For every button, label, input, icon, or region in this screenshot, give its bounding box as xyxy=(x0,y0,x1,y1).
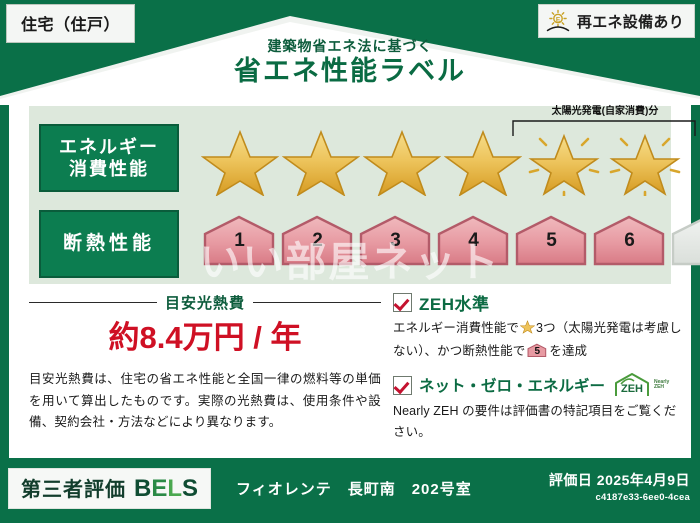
label-lower-section: 目安光熱費 約8.4万円 / 年 目安光熱費は、住宅の省エネ性能と全国一律の燃料… xyxy=(29,290,679,450)
bels-certification-chip: 第三者評価 BELS xyxy=(8,468,211,509)
star-icon-inline xyxy=(520,319,535,341)
zeh-logo-icon: ZEH Nearly ZEH xyxy=(612,372,669,398)
check-icon xyxy=(393,293,412,312)
zeh-logo-sub2: ZEH xyxy=(654,384,664,390)
utility-cost-value: 約8.4万円 / 年 xyxy=(29,321,381,355)
utility-cost-heading-text: 目安光熱費 xyxy=(165,292,245,313)
energy-star-rating xyxy=(201,126,684,196)
energy-label-line1: エネルギー xyxy=(59,136,159,159)
inline-house-grade: 5 xyxy=(527,344,547,361)
zeh-standard-body: エネルギー消費性能で3つ（太陽光発電は考慮しない）、かつ断熱性能で5を達成 xyxy=(393,318,683,362)
evaluation-info: 評価日 2025年4月9日 c4187e33-6ee0-4cea xyxy=(549,470,690,503)
bels-letter-s: S xyxy=(182,475,198,502)
insulation-grade-house: 2 xyxy=(279,214,356,268)
zeh-standard-header: ZEH水準 xyxy=(393,290,683,315)
check-icon xyxy=(393,376,412,395)
zeh-body-before-star: エネルギー消費性能で xyxy=(393,321,519,335)
utility-cost-note: 目安光熱費は、住宅の省エネ性能と全国一律の燃料等の単価を用いて算出したものです。… xyxy=(29,369,381,434)
renewable-energy-badge: E 再エネ設備あり xyxy=(538,4,695,38)
evaluation-id: c4187e33-6ee0-4cea xyxy=(549,492,690,503)
insulation-grade-house: 3 xyxy=(357,214,434,268)
svg-text:ZEH: ZEH xyxy=(621,383,643,395)
bels-letter-l: L xyxy=(167,475,182,502)
star-filled xyxy=(282,126,360,196)
energy-performance-label: 住宅（住戸） E 再エネ設備あり 建築物省エネ法に基づく 省エネ性能ラベル xyxy=(0,0,700,523)
insulation-grade-house-inactive: 7 xyxy=(669,214,700,268)
insulation-grade-number: 3 xyxy=(357,230,434,252)
insulation-grade-number: 4 xyxy=(435,230,512,252)
insulation-grade-house: 5 xyxy=(513,214,590,268)
star-solar xyxy=(606,126,684,196)
property-name: フィオレンテ 長町南 202号室 xyxy=(236,478,472,499)
label-body-card: エネルギー 消費性能 太陽光発電(自家消費)分 xyxy=(9,98,691,458)
insulation-grade-house: 6 xyxy=(591,214,668,268)
utility-cost-heading: 目安光熱費 xyxy=(29,292,381,313)
zeh-standard-title: ZEH水準 xyxy=(419,290,490,315)
zeh-column: ZEH水準 エネルギー消費性能で3つ（太陽光発電は考慮しない）、かつ断熱性能で5… xyxy=(393,290,683,449)
net-zero-energy-body: Nearly ZEH の要件は評価書の特記項目をご覧ください。 xyxy=(393,401,683,443)
bels-ja-text: 第三者評価 xyxy=(21,473,126,502)
utility-cost-column: 目安光熱費 約8.4万円 / 年 目安光熱費は、住宅の省エネ性能と全国一律の燃料… xyxy=(29,290,381,434)
label-footer: 第三者評価 BELS フィオレンテ 長町南 202号室 評価日 2025年4月9… xyxy=(0,458,700,523)
insulation-grade-number: 1 xyxy=(201,230,278,252)
net-zero-energy-item: ネット・ゼロ・エネルギー ZEH Nearly ZEH xyxy=(393,372,683,443)
net-zero-energy-title: ネット・ゼロ・エネルギー xyxy=(419,374,605,396)
energy-label-line2: 消費性能 xyxy=(69,158,149,181)
insulation-grade-number: 7 xyxy=(669,230,700,252)
insulation-grade-number: 6 xyxy=(591,230,668,252)
energy-performance-row: エネルギー 消費性能 太陽光発電(自家消費)分 xyxy=(29,106,671,206)
insulation-grade-house: 4 xyxy=(435,214,512,268)
star-filled xyxy=(363,126,441,196)
star-filled xyxy=(444,126,522,196)
bels-letter-e: E xyxy=(151,475,167,502)
sun-renewable-icon: E xyxy=(545,9,571,33)
house-icon-inline: 5 xyxy=(527,343,547,358)
svg-text:E: E xyxy=(556,16,561,23)
insulation-performance-row: 断熱性能 xyxy=(29,206,671,276)
heading-rule-right xyxy=(253,302,381,303)
net-zero-energy-header: ネット・ゼロ・エネルギー ZEH Nearly ZEH xyxy=(393,372,683,398)
insulation-grade-number: 5 xyxy=(513,230,590,252)
zeh-body-after: を達成 xyxy=(549,344,587,358)
energy-performance-label: エネルギー 消費性能 xyxy=(39,124,179,192)
insulation-grade-scale: 1 2 3 4 5 xyxy=(201,214,700,268)
bels-letter-b: B xyxy=(134,475,151,502)
insulation-label-text: 断熱性能 xyxy=(63,232,155,256)
heading-rule-left xyxy=(29,302,157,303)
star-solar xyxy=(525,126,603,196)
performance-panel: エネルギー 消費性能 太陽光発電(自家消費)分 xyxy=(29,106,671,284)
star-filled xyxy=(201,126,279,196)
insulation-grade-number: 2 xyxy=(279,230,356,252)
zeh-standard-item: ZEH水準 エネルギー消費性能で3つ（太陽光発電は考慮しない）、かつ断熱性能で5… xyxy=(393,290,683,362)
bels-en-logo: BELS xyxy=(134,475,198,503)
renewable-badge-label: 再エネ設備あり xyxy=(577,11,684,32)
evaluation-date: 評価日 2025年4月9日 xyxy=(549,470,690,490)
insulation-grade-house: 1 xyxy=(201,214,278,268)
housing-type-chip: 住宅（住戸） xyxy=(6,4,135,43)
insulation-performance-label: 断熱性能 xyxy=(39,210,179,278)
solar-caption: 太陽光発電(自家消費)分 xyxy=(513,102,697,117)
